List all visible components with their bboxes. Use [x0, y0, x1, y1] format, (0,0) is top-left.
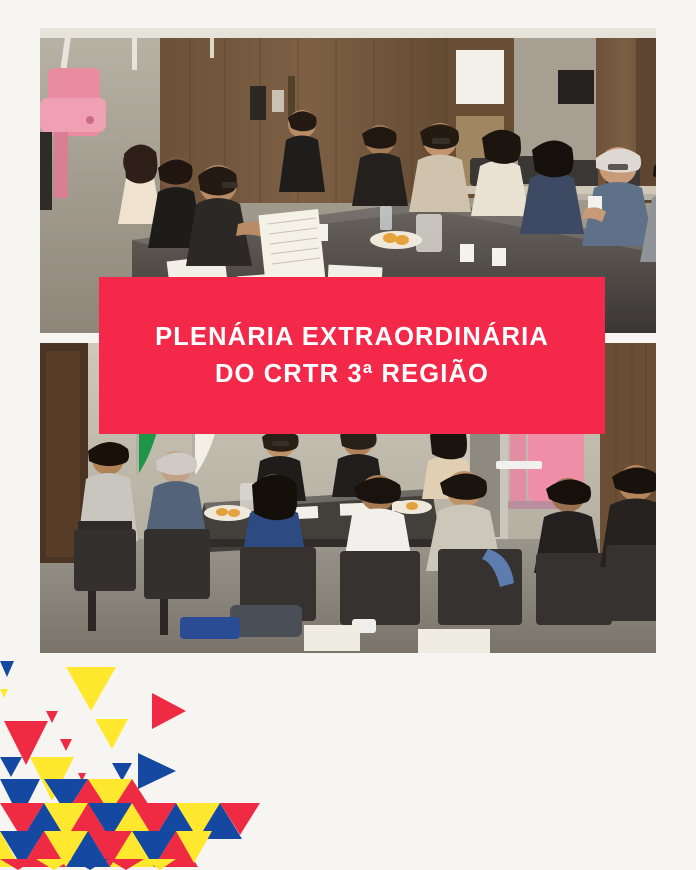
title-banner: PLENÁRIA EXTRAORDINÁRIA DO CRTR 3ª REGIÃ… [99, 277, 605, 434]
triangle-mosaic [0, 653, 260, 870]
poster-canvas: PLENÁRIA EXTRAORDINÁRIA DO CRTR 3ª REGIÃ… [0, 0, 696, 870]
footer-bar: TRABALHO EM PROL DA QUALIDADE PROFISSION… [0, 653, 696, 870]
title-line-2: DO CRTR 3ª REGIÃO [215, 356, 489, 392]
title-line-1: PLENÁRIA EXTRAORDINÁRIA [155, 319, 549, 355]
